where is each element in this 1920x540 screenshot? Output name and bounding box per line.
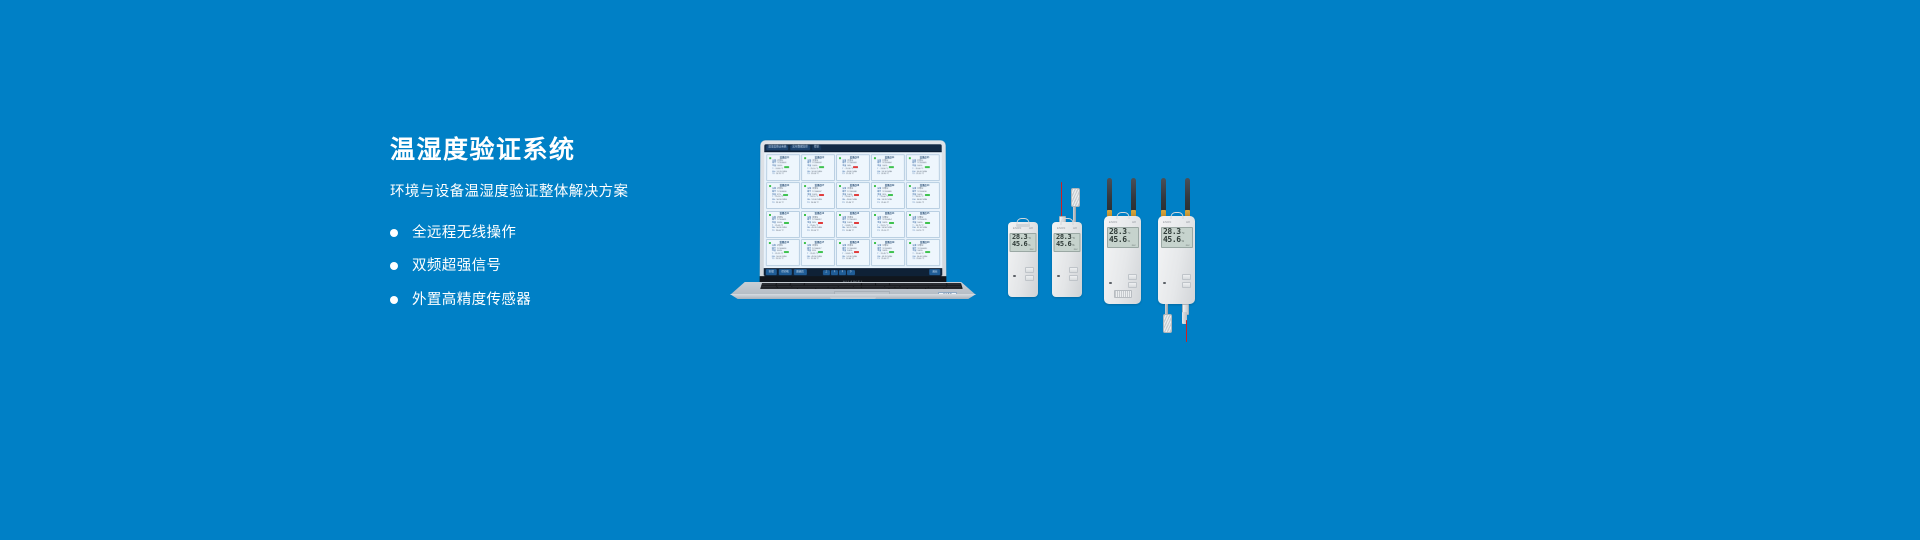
sensor-card[interactable]: 监测点02设备记录仪编号TC100002电量100%T :25.10 ℃RH:5… [801, 154, 835, 181]
card-row: T2:25.30 ℃ [842, 202, 867, 205]
copy-block: 温湿度验证系统 环境与设备温湿度验证整体解决方案 全远程无线操作 双频超强信号 … [390, 138, 720, 326]
card-status-led-icon [874, 242, 876, 244]
sensor-card[interactable]: 监测点08设备记录仪编号TC100008电量100%T :25.40 ℃RH:4… [836, 182, 870, 209]
sensor-card[interactable]: 监测点11设备记录仪编号TC100011电量100%T :25.05 ℃RH:5… [766, 211, 800, 238]
bullet-icon [390, 296, 398, 304]
card-row-key: T2: [772, 258, 775, 261]
laptop-base: 验证系统 [722, 282, 984, 298]
card-status-led-icon [874, 157, 876, 159]
sensor-card[interactable]: 监测点12设备记录仪编号TC100012电量96%T :25.60 ℃RH:49… [801, 211, 835, 238]
page-prev-button[interactable]: 上 [822, 270, 829, 275]
laptop-lid: 温湿度验证系统 实时数据监控 帮助 监测点01设备记录仪编号TC100001电量… [760, 140, 947, 288]
card-title: 监测点05 [912, 157, 937, 159]
sensor-card[interactable]: 监测点09设备记录仪编号TC100009电量99%T :25.00 ℃RH:50… [871, 182, 905, 209]
card-title: 监测点15 [912, 213, 937, 215]
humidity-value: 45.6 [1109, 236, 1127, 244]
card-row-value: 25.50 ℃ [811, 230, 819, 233]
card-row: T2:24.60 ℃ [842, 258, 867, 261]
card-row: T2:24.80 ℃ [842, 230, 867, 233]
card-battery-indicator [784, 166, 789, 168]
feature-label: 外置高精度传感器 [412, 293, 531, 308]
keyboard-key [926, 288, 944, 289]
card-status-led-icon [909, 157, 911, 159]
card-battery-indicator [854, 222, 859, 224]
keyboard-key [907, 288, 925, 289]
card-title: 监测点14 [877, 213, 902, 215]
card-battery-indicator [888, 194, 893, 196]
card-row: T2:24.80 ℃ [807, 202, 832, 205]
card-row-value: 25.00 ℃ [916, 258, 924, 261]
card-title: 监测点07 [807, 185, 832, 187]
brand-right-label: H8 [1073, 227, 1077, 230]
card-row-key: T2: [877, 173, 880, 176]
temperature-unit: ℃ [1182, 233, 1185, 236]
humidity-unit: % [1072, 245, 1074, 248]
keyboard-key [944, 288, 962, 289]
card-title: 监测点18 [842, 242, 867, 244]
laptop-screen: 温湿度验证系统 实时数据监控 帮助 监测点01设备记录仪编号TC100001电量… [764, 144, 943, 276]
app-header: 温湿度验证系统 实时数据监控 帮助 [764, 144, 941, 152]
card-row-key: T2: [912, 173, 915, 176]
feature-list: 全远程无线操作 双频超强信号 外置高精度传感器 [390, 226, 720, 308]
humidity-value: 45.6 [1056, 241, 1071, 248]
sensor-card[interactable]: 监测点06设备记录仪编号TC100006电量97%T :25.20 ℃RH:50… [766, 182, 800, 209]
card-row-value: 25.10 ℃ [776, 202, 784, 205]
card-row: T2:25.00 ℃ [877, 202, 902, 205]
card-row: T2:24.70 ℃ [772, 173, 797, 176]
humidity-value: 45.6 [1012, 241, 1027, 248]
device-button-up[interactable] [1069, 267, 1078, 273]
card-title: 监测点12 [807, 213, 832, 215]
card-row: T2:25.20 ℃ [772, 258, 797, 261]
keyboard-key [871, 288, 889, 289]
tab-monitor[interactable]: 温湿度验证系统 [766, 145, 788, 150]
lcd-display: 28.3 ℃ 45.6 % REC [1161, 227, 1193, 248]
card-row: T2:25.00 ℃ [807, 173, 832, 176]
card-battery-indicator [890, 251, 895, 253]
card-row-key: T2: [807, 202, 810, 205]
toolbar-button-database[interactable]: 数据库 [793, 270, 807, 275]
card-battery-indicator [889, 166, 894, 168]
vent-grille-icon [1114, 290, 1132, 298]
bullet-icon [390, 262, 398, 270]
device-button-down[interactable] [1069, 275, 1078, 281]
brand-right-label: H8 [1029, 227, 1033, 230]
card-row-key: T2: [877, 202, 880, 205]
antenna-right-icon [1131, 178, 1136, 212]
card-status-led-icon [909, 242, 911, 244]
card-status-led-icon [839, 242, 841, 244]
card-row-key: T2: [842, 173, 845, 176]
brand-left-label: ENDN [1163, 221, 1172, 224]
card-row: T2:25.20 ℃ [842, 173, 867, 176]
humidity-value: 45.6 [1163, 236, 1181, 244]
card-row-key: T2: [912, 230, 915, 233]
card-row-value: 25.10 ℃ [916, 173, 924, 176]
sensor-card[interactable]: 监测点18设备记录仪编号TC100018电量100%T :24.65 ℃RH:5… [836, 239, 870, 266]
antenna-right-icon [1185, 178, 1190, 212]
card-row-key: T2: [842, 258, 845, 261]
antenna-left-icon [1107, 178, 1112, 212]
card-battery-indicator [819, 194, 824, 196]
lcd-footer-label: REC [1163, 245, 1190, 247]
card-status-led-icon [839, 157, 841, 159]
card-status-led-icon [909, 185, 911, 187]
card-row-value: 25.20 ℃ [776, 258, 784, 261]
device-keypad[interactable] [1182, 274, 1191, 288]
card-row-key: T2: [842, 202, 845, 205]
device-logger-with-probe: ENDN H8 28.3 ℃ 45.6 % REC [1052, 222, 1082, 297]
temperature-unit: ℃ [1028, 238, 1031, 241]
keyboard-key [834, 288, 870, 289]
toolbar-button-print[interactable]: 打印机 [778, 270, 792, 275]
card-row-key: T2: [877, 230, 880, 233]
card-status-led-icon [768, 242, 770, 244]
hanger-loop-icon [1170, 212, 1183, 219]
card-title: 监测点17 [807, 242, 832, 244]
pagination: 上 1 2 下 [822, 270, 854, 275]
card-title: 监测点04 [877, 157, 902, 159]
keyboard[interactable] [760, 283, 963, 289]
sensor-card[interactable]: 监测点17设备记录仪编号TC100017电量95%T :25.35 ℃RH:49… [801, 239, 835, 266]
card-row-value: 24.70 ℃ [776, 173, 784, 176]
laptop-open-notch [830, 297, 876, 300]
card-battery-indicator [925, 222, 930, 224]
card-row-value: 24.90 ℃ [916, 202, 924, 205]
card-battery-indicator [818, 251, 823, 253]
card-battery-indicator [924, 166, 929, 168]
card-status-led-icon [804, 157, 806, 159]
sensor-card[interactable]: 监测点16设备记录仪编号TC100016电量100%T :25.25 ℃RH:5… [766, 239, 800, 266]
card-row-key: T2: [912, 202, 915, 205]
keyboard-key [816, 288, 834, 289]
lcd-footer-label: REC [1109, 245, 1136, 247]
bullet-icon [390, 229, 398, 237]
card-title: 监测点02 [807, 157, 832, 159]
card-title: 监测点20 [912, 242, 937, 244]
card-row: T2:25.00 ℃ [772, 230, 797, 233]
card-row-value: 25.40 ℃ [881, 258, 889, 261]
card-battery-indicator [925, 251, 930, 253]
card-row-key: T2: [913, 258, 916, 261]
lcd-display: 28.3 ℃ 45.6 % REC [1054, 233, 1081, 252]
lcd-display: 28.3 ℃ 45.6 % REC [1107, 227, 1139, 248]
card-row-key: T2: [807, 258, 810, 261]
probe-wire [1186, 320, 1187, 342]
temperature-unit: ℃ [1072, 238, 1075, 241]
lcd-footer-label: REC [1056, 249, 1078, 251]
device-body: ENDN H8 28.3 ℃ 45.6 % REC [1052, 222, 1082, 297]
card-battery-indicator [819, 166, 824, 168]
card-title: 监测点06 [772, 185, 797, 187]
card-row: T2:24.70 ℃ [912, 230, 937, 233]
card-row-key: T2: [772, 230, 775, 233]
sensor-card[interactable]: 监测点19设备记录仪编号TC100019电量100%T :25.45 ℃RH:4… [871, 239, 905, 266]
brand-right-label: H8 [1186, 221, 1190, 224]
tab-realtime[interactable]: 实时数据监控 [790, 145, 810, 150]
sensor-card[interactable]: 监测点10设备记录仪编号TC100010电量100%T :24.95 ℃RH:5… [906, 182, 940, 209]
card-row-value: 25.30 ℃ [846, 202, 854, 205]
card-status-led-icon [769, 157, 771, 159]
card-battery-indicator [854, 251, 859, 253]
card-row-key: T2: [772, 202, 775, 205]
card-row-key: T2: [842, 230, 845, 233]
card-row: T2:25.50 ℃ [807, 230, 832, 233]
device-group: ENDN H8 28.3 ℃ 45.6 % REC [1000, 180, 1220, 320]
card-row-key: T2: [877, 258, 880, 261]
card-row-value: 24.70 ℃ [916, 230, 924, 233]
temperature-unit: ℃ [1128, 233, 1131, 236]
card-title: 监测点13 [842, 213, 867, 215]
promo-banner: 温湿度验证系统 环境与设备温湿度验证整体解决方案 全远程无线操作 双频超强信号 … [0, 0, 1920, 540]
hanger-loop-icon [1116, 212, 1129, 219]
sensor-card[interactable]: 监测点07设备记录仪编号TC100007电量100%T :24.70 ℃RH:5… [801, 182, 835, 209]
device-dual-band-validator: ENDN H8 28.3 ℃ 45.6 % REC [1104, 216, 1141, 304]
sensor-card[interactable]: 监测点05设备记录仪编号TC100005电量100%T :25.00 ℃RH:5… [906, 154, 940, 181]
toolbar-button-new[interactable]: 新增 [766, 270, 777, 275]
card-status-led-icon [804, 242, 806, 244]
keyboard-key [761, 288, 779, 289]
card-title: 监测点03 [842, 157, 867, 159]
card-row-key: T2: [807, 230, 810, 233]
device-dual-band-validator-probe: ENDN H8 28.3 ℃ 45.6 % REC [1158, 216, 1195, 304]
antenna-left-icon [1161, 178, 1166, 212]
tab-help[interactable]: 帮助 [812, 145, 821, 150]
brand-left-label: ENDN [1013, 227, 1022, 230]
lcd-display: 28.3 ℃ 45.6 % REC [1010, 233, 1037, 252]
card-row: T2:24.90 ℃ [877, 173, 902, 176]
card-title: 监测点10 [912, 185, 937, 187]
card-row: T2:25.30 ℃ [807, 258, 832, 261]
card-row-value: 25.20 ℃ [846, 173, 854, 176]
brand-right-label: H8 [1132, 221, 1136, 224]
card-row-value: 25.00 ℃ [776, 230, 784, 233]
card-status-led-icon [839, 214, 841, 216]
laptop-product-image: 温湿度验证系统 实时数据监控 帮助 监测点01设备记录仪编号TC100001电量… [722, 140, 984, 298]
card-row-value: 25.30 ℃ [811, 258, 819, 261]
keyboard-row [761, 288, 963, 289]
device-keypad[interactable] [1025, 267, 1034, 281]
device-button-down[interactable] [1182, 282, 1191, 288]
card-row-key: T2: [772, 173, 775, 176]
card-status-led-icon [768, 214, 770, 216]
card-row: T2:25.00 ℃ [913, 258, 938, 261]
sensor-card[interactable]: 监测点01设备记录仪编号TC100001电量100%T :24.80 ℃RH:5… [766, 154, 800, 181]
sensor-card[interactable]: 监测点14设备记录仪编号TC100014电量100%T :25.15 ℃RH:5… [871, 211, 905, 238]
device-brand: ENDN H8 [1052, 227, 1082, 230]
card-row-value: 25.00 ℃ [811, 173, 819, 176]
feature-label: 全远程无线操作 [412, 226, 516, 241]
laptop-deck: 验证系统 [730, 282, 976, 295]
device-keypad[interactable] [1128, 274, 1137, 288]
card-battery-indicator [853, 166, 858, 168]
toolbar-button-exit[interactable]: 退出 [929, 270, 940, 275]
keyboard-key [797, 288, 815, 289]
card-status-led-icon [874, 185, 876, 187]
card-row: T2:25.40 ℃ [877, 258, 902, 261]
sensor-card[interactable]: 监测点20设备记录仪编号TC100020电量100%T :25.00 ℃RH:5… [906, 239, 940, 266]
device-button-up[interactable] [1025, 267, 1034, 273]
card-title: 监测点19 [877, 242, 902, 244]
sensor-card[interactable]: 监测点03设备记录仪编号TC100003电量98%T :25.30 ℃RH:49… [836, 154, 870, 181]
card-battery-indicator [784, 251, 789, 253]
lcd-humidity-line: 45.6 % [1109, 236, 1136, 244]
card-title: 监测点09 [877, 185, 902, 187]
page-next-button[interactable]: 下 [847, 270, 854, 275]
card-status-led-icon [769, 185, 771, 187]
device-body: ENDN H8 28.3 ℃ 45.6 % REC [1158, 216, 1195, 304]
app-toolbar: 新增 打印机 数据库 上 1 2 下 退出 [764, 268, 943, 276]
brand-left-label: ENDN [1109, 221, 1118, 224]
card-row-key: T2: [807, 173, 810, 176]
card-row-value: 24.80 ℃ [811, 202, 819, 205]
list-item: 全远程无线操作 [390, 226, 720, 241]
feature-label: 双频超强信号 [412, 259, 501, 274]
keyboard-key [889, 288, 907, 289]
card-title: 监测点08 [842, 185, 867, 187]
card-row-value: 25.10 ℃ [881, 230, 889, 233]
card-row-value: 24.90 ℃ [881, 173, 889, 176]
card-row-value: 24.80 ℃ [846, 230, 854, 233]
device-body: ENDN H8 28.3 ℃ 45.6 % REC [1104, 216, 1141, 304]
device-brand: ENDN H8 [1104, 221, 1141, 224]
sensor-card[interactable]: 监测点13设备记录仪编号TC100013电量100%T :24.85 ℃RH:5… [836, 211, 870, 238]
page-1-button[interactable]: 1 [831, 270, 837, 275]
sensor-card-grid: 监测点01设备记录仪编号TC100001电量100%T :24.80 ℃RH:5… [764, 152, 942, 268]
status-led-icon [1109, 282, 1112, 285]
page-title: 温湿度验证系统 [390, 138, 720, 163]
device-keypad[interactable] [1069, 267, 1078, 281]
device-body: ENDN H8 28.3 ℃ 45.6 % REC [1008, 222, 1038, 297]
device-button-down[interactable] [1025, 275, 1034, 281]
card-row: T2:25.10 ℃ [877, 230, 902, 233]
device-logger: ENDN H8 28.3 ℃ 45.6 % REC [1008, 222, 1038, 297]
device-brand: ENDN H8 [1008, 227, 1038, 230]
page-2-button[interactable]: 2 [839, 270, 845, 275]
hanger-loop-icon [1061, 218, 1074, 225]
card-row: T2:24.90 ℃ [912, 202, 937, 205]
card-battery-indicator [889, 222, 894, 224]
subtitle: 环境与设备温湿度验证整体解决方案 [390, 185, 720, 200]
card-row-value: 25.00 ℃ [881, 202, 889, 205]
humidity-unit: % [1028, 245, 1030, 248]
card-battery-indicator [784, 222, 789, 224]
device-button-up[interactable] [1128, 274, 1137, 280]
card-battery-indicator [924, 194, 929, 196]
card-status-led-icon [909, 214, 911, 216]
card-battery-indicator [854, 194, 859, 196]
card-status-led-icon [804, 185, 806, 187]
lcd-humidity-line: 45.6 % [1163, 236, 1190, 244]
device-button-up[interactable] [1182, 274, 1191, 280]
card-title: 监测点01 [772, 157, 797, 159]
card-title: 监测点16 [772, 242, 797, 244]
status-led-icon [1163, 282, 1166, 285]
sensor-card[interactable]: 监测点04设备记录仪编号TC100004电量100%T :24.90 ℃RH:5… [871, 154, 905, 181]
card-row: T2:25.10 ℃ [912, 173, 937, 176]
card-battery-indicator [783, 194, 788, 196]
card-title: 监测点11 [772, 213, 797, 215]
probe-filter-cap [1071, 188, 1080, 207]
card-status-led-icon [839, 185, 841, 187]
list-item: 外置高精度传感器 [390, 293, 720, 308]
lcd-humidity-line: 45.6 % [1056, 241, 1078, 248]
probe-filter-cap [1163, 314, 1172, 333]
card-status-led-icon [874, 214, 876, 216]
lcd-footer-label: REC [1012, 249, 1034, 251]
card-row: T2:25.10 ℃ [772, 202, 797, 205]
status-led-icon [1057, 275, 1060, 278]
sensor-card[interactable]: 监测点15设备记录仪编号TC100015电量100%T :24.75 ℃RH:5… [906, 211, 940, 238]
humidity-unit: % [1128, 241, 1130, 244]
list-item: 双频超强信号 [390, 259, 720, 274]
status-led-icon [1013, 275, 1016, 278]
keyboard-key [779, 288, 797, 289]
device-brand: ENDN H8 [1158, 221, 1195, 224]
device-button-down[interactable] [1128, 282, 1137, 288]
card-row-value: 24.60 ℃ [846, 258, 854, 261]
card-status-led-icon [804, 214, 806, 216]
card-battery-indicator [818, 222, 823, 224]
lcd-humidity-line: 45.6 % [1012, 241, 1034, 248]
humidity-unit: % [1182, 241, 1184, 244]
brand-left-label: ENDN [1057, 227, 1066, 230]
